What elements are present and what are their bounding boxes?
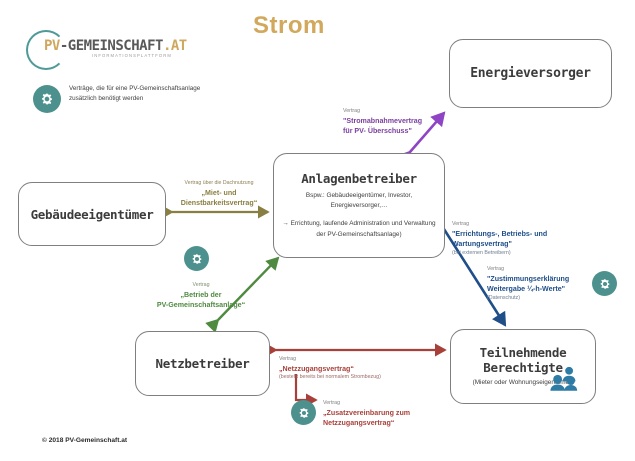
node-gebaeudeeigentuemer[interactable]: Gebäudeeigentümer [18,182,166,246]
label-errichtungsvertrag-line2: Wartungsvertrag" [452,239,612,249]
node-netzbetreiber[interactable]: Netzbetreiber [135,331,270,396]
logo-pv-text: PV [44,38,60,54]
label-stromabnahmevertrag-line2: für PV- Überschuss" [343,126,453,136]
logo-at-text: .AT [163,38,187,54]
label-netzzugangsvertrag-line1: „Netzzugangsvertrag“ [279,364,449,374]
label-dachnutzung-kicker: Vertrag über die Dachnutzung [163,180,275,188]
label-zustimmungserklaerung-line1: "Zustimmungserklärung [487,274,605,284]
node-anlagenbetreiber[interactable]: Anlagenbetreiber Bspw.: Gebäudeeigentüme… [273,153,445,258]
gear-icon [291,400,316,425]
label-stromabnahmevertrag-kicker: Vertrag [343,108,453,116]
node-anlagenbetreiber-title: Anlagenbetreiber [301,171,417,186]
node-netzbetreiber-title: Netzbetreiber [156,356,250,371]
label-zusatzvereinbarung-kicker: Vertrag [323,400,473,408]
label-dachnutzung-line1: „Miet- und [163,188,275,198]
logo-wordmark: PV-GEMEINSCHAFT.AT [44,38,187,54]
gear-icon [184,246,209,271]
copyright-text: © 2018 PV-Gemeinschaft.at [42,437,127,444]
label-netzzugangsvertrag-note: (besteht bereits bei normalem Strombezug… [279,374,449,382]
people-icon [547,365,581,391]
label-errichtungsvertrag-line1: "Errichtungs-, Betriebs- und [452,229,612,239]
node-energieversorger[interactable]: Energieversorger [449,39,612,108]
node-energieversorger-title: Energieversorger [470,66,590,81]
label-netzzugangsvertrag-kicker: Vertrag [279,356,449,364]
label-zusatzvereinbarung-line2: Netzzugangsvertrag“ [323,418,473,428]
node-teilnehmende-berechtigte[interactable]: Teilnehmende Berechtigte (Mieter oder Wo… [450,329,596,404]
gear-icon [33,85,61,113]
diagram-canvas: PV-GEMEINSCHAFT.AT INFORMATIONSPLATTFORM… [0,0,635,461]
label-zustimmungserklaerung-note: (Datenschutz) [487,295,605,303]
node-gebaeudeeigentuemer-title: Gebäudeeigentümer [31,207,154,222]
label-dachnutzung-line2: Dienstbarkeitsvertrag“ [163,198,275,208]
brand-logo: PV-GEMEINSCHAFT.AT INFORMATIONSPLATTFORM [26,30,176,70]
logo-subtitle: INFORMATIONSPLATTFORM [92,53,172,58]
label-betrieb-line1: „Betrieb der [146,290,256,300]
label-stromabnahmevertrag-line1: "Stromabnahmevertrag [343,116,453,126]
node-teilnehmende-title-line1: Teilnehmende [480,345,567,361]
label-zusatzvereinbarung-line1: „Zusatzvereinbarung zum [323,408,473,418]
label-errichtungsvertrag-note: (bei externen Betreibern) [452,250,612,258]
gear-icon [592,271,617,296]
label-betrieb-line2: PV-Gemeinschaftsanlage“ [146,300,256,310]
label-stromabnahmevertrag: Vertrag "Stromabnahmevertrag für PV- Übe… [343,108,453,137]
label-betrieb-kicker: Vertrag [146,282,256,290]
label-zusatzvereinbarung: Vertrag „Zusatzvereinbarung zum Netzzuga… [323,400,473,429]
legend-text: Verträge, die für eine PV-Gemeinschaftsa… [69,84,229,104]
logo-gemeinschaft-text: -GEMEINSCHAFT [60,38,163,54]
node-anlagenbetreiber-sub1: Bspw.: Gebäudeeigentümer, Investor, Ener… [274,191,444,212]
label-netzzugangsvertrag: Vertrag „Netzzugangsvertrag“ (besteht be… [279,356,449,382]
page-title: Strom [253,12,325,40]
label-zustimmungserklaerung-kicker: Vertrag [487,266,605,274]
label-errichtungsvertrag-kicker: Vertrag [452,221,612,229]
label-betrieb: Vertrag „Betrieb der PV-Gemeinschaftsanl… [146,282,256,311]
label-zustimmungserklaerung: Vertrag "Zustimmungserklärung Weitergabe… [487,266,605,303]
node-anlagenbetreiber-sub2: → Errichtung, laufende Administration un… [274,219,444,240]
label-dachnutzung: Vertrag über die Dachnutzung „Miet- und … [163,180,275,209]
label-zustimmungserklaerung-line2: Weitergabe ¼-h-Werte" [487,284,605,294]
label-errichtungsvertrag: Vertrag "Errichtungs-, Betriebs- und War… [452,221,612,258]
